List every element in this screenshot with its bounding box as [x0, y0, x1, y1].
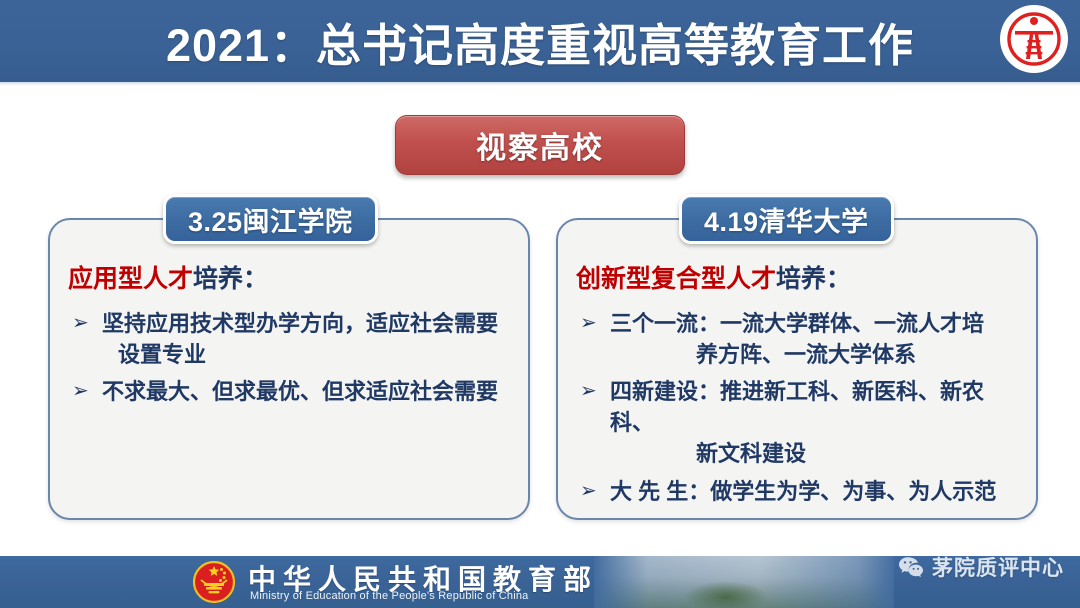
- card-tsinghua-university: 创新型复合型人才培养： ➢ 三个一流：一流大学群体、一流人才培 养方阵、一流大学…: [556, 218, 1038, 520]
- list-item: ➢ 坚持应用技术型办学方向，适应社会需要 设置专业: [68, 308, 514, 370]
- card-heading-right: 创新型复合型人才培养：: [576, 266, 1022, 294]
- bullet-line-1: 坚持应用技术型办学方向，适应社会需要: [102, 311, 498, 336]
- national-emblem-icon: [192, 560, 236, 604]
- bullet-list-right: ➢ 三个一流：一流大学群体、一流人才培 养方阵、一流大学体系 ➢ 四新建设：推进…: [576, 308, 1022, 507]
- bullet-line-2: 养方阵、一流大学体系: [610, 339, 1022, 370]
- bullet-arrow-icon: ➢: [580, 377, 597, 405]
- list-item: ➢ 不求最大、但求最优、但求适应社会需要: [68, 376, 514, 407]
- card-minjiang-university: 应用型人才培养： ➢ 坚持应用技术型办学方向，适应社会需要 设置专业 ➢ 不求最…: [48, 218, 530, 520]
- bullet-line-1: 四新建设：推进新工科、新医科、新农科、: [610, 379, 984, 435]
- list-item: ➢ 三个一流：一流大学群体、一流人才培 养方阵、一流大学体系: [576, 308, 1022, 370]
- bullet-arrow-icon: ➢: [580, 477, 597, 505]
- card-heading-rest-right: 培养：: [776, 265, 851, 293]
- section-banner-label: 视察高校: [476, 123, 604, 167]
- bullet-line-1: 三个一流：一流大学群体、一流人才培: [610, 311, 984, 336]
- bullet-line-2: 设置专业: [102, 339, 514, 370]
- card-heading-rest-left: 培养：: [193, 265, 268, 293]
- list-item: ➢ 大 先 生：做学生为学、为事、为人示范: [576, 476, 1022, 507]
- bullet-arrow-icon: ➢: [72, 309, 89, 337]
- china-national-emblem: [192, 560, 236, 604]
- wechat-watermark: 茅院质评中心: [898, 552, 1064, 582]
- card-badge-minjiang: 3.25闽江学院: [163, 194, 378, 244]
- bullet-arrow-icon: ➢: [72, 377, 89, 405]
- bullet-line-1: 大 先 生：做学生为学、为事、为人示范: [610, 479, 996, 504]
- card-body-right: 创新型复合型人才培养： ➢ 三个一流：一流大学群体、一流人才培 养方阵、一流大学…: [558, 220, 1036, 518]
- bullet-line-2: 新文科建设: [610, 438, 1022, 469]
- wechat-icon: [898, 554, 924, 580]
- card-badge-label: 4.19清华大学: [704, 200, 869, 239]
- section-banner-wrap: 视察高校: [0, 115, 1080, 175]
- bullet-arrow-icon: ➢: [580, 309, 597, 337]
- card-body-left: 应用型人才培养： ➢ 坚持应用技术型办学方向，适应社会需要 设置专业 ➢ 不求最…: [50, 220, 528, 518]
- card-badge-tsinghua: 4.19清华大学: [679, 194, 894, 244]
- card-heading-highlight-right: 创新型复合型人才: [576, 265, 776, 293]
- card-badge-label: 3.25闽江学院: [188, 200, 353, 239]
- header-underline: [0, 82, 1080, 86]
- ministry-name-en: Ministry of Education of the People's Re…: [250, 590, 528, 602]
- list-item: ➢ 四新建设：推进新工科、新医科、新农科、 新文科建设: [576, 376, 1022, 470]
- card-heading-left: 应用型人才培养：: [68, 266, 514, 294]
- mao-institute-red-circle-logo: [1004, 9, 1064, 69]
- slide-root: 2021：总书记高度重视高等教育工作 视察高校 应用型人才培养： ➢: [0, 0, 1080, 608]
- bullet-list-left: ➢ 坚持应用技术型办学方向，适应社会需要 设置专业 ➢ 不求最大、但求最优、但求…: [68, 308, 514, 408]
- mao-institute-logo: [1000, 5, 1068, 73]
- campus-building-photo: [594, 556, 894, 608]
- page-title: 2021：总书记高度重视高等教育工作: [120, 0, 960, 82]
- section-banner: 视察高校: [395, 115, 685, 175]
- card-heading-highlight-left: 应用型人才: [68, 265, 193, 293]
- bullet-line-1: 不求最大、但求最优、但求适应社会需要: [102, 379, 498, 404]
- watermark-label: 茅院质评中心: [932, 552, 1064, 582]
